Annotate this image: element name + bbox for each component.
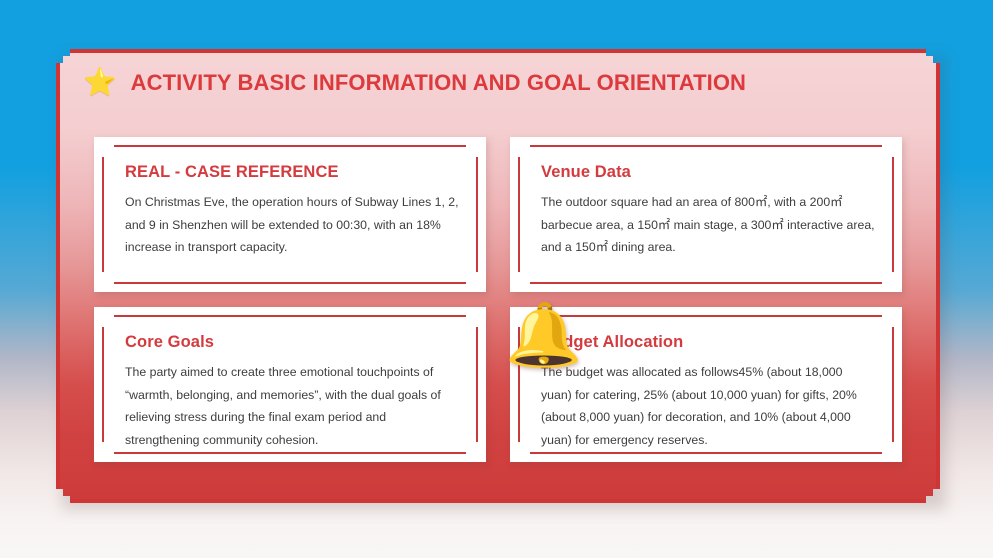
card-title: Core Goals xyxy=(125,333,460,352)
content-panel: ⭐ ACTIVITY BASIC INFORMATION AND GOAL OR… xyxy=(56,49,940,503)
card-title: Venue Data xyxy=(541,163,876,182)
card-body: Venue Data The outdoor square had an are… xyxy=(541,163,876,259)
card-text: The party aimed to create three emotiona… xyxy=(125,361,460,452)
panel-header: ⭐ ACTIVITY BASIC INFORMATION AND GOAL OR… xyxy=(83,69,746,96)
card-title: Budget Allocation xyxy=(541,333,876,352)
page-title: ACTIVITY BASIC INFORMATION AND GOAL ORIE… xyxy=(131,70,746,96)
card-body: REAL - CASE REFERENCE On Christmas Eve, … xyxy=(125,163,460,259)
christmas-bells-icon: 🔔 xyxy=(505,305,582,367)
card-body: Budget Allocation The budget was allocat… xyxy=(541,333,876,452)
card-real-case-reference[interactable]: REAL - CASE REFERENCE On Christmas Eve, … xyxy=(94,137,486,292)
card-grid: REAL - CASE REFERENCE On Christmas Eve, … xyxy=(94,137,902,462)
card-text: The outdoor square had an area of 800㎡, … xyxy=(541,191,876,259)
card-text: On Christmas Eve, the operation hours of… xyxy=(125,191,460,259)
card-venue-data[interactable]: Venue Data The outdoor square had an are… xyxy=(510,137,902,292)
card-title: REAL - CASE REFERENCE xyxy=(125,163,460,182)
card-body: Core Goals The party aimed to create thr… xyxy=(125,333,460,452)
star-icon: ⭐ xyxy=(83,69,117,96)
card-core-goals[interactable]: Core Goals The party aimed to create thr… xyxy=(94,307,486,462)
card-text: The budget was allocated as follows45% (… xyxy=(541,361,876,452)
